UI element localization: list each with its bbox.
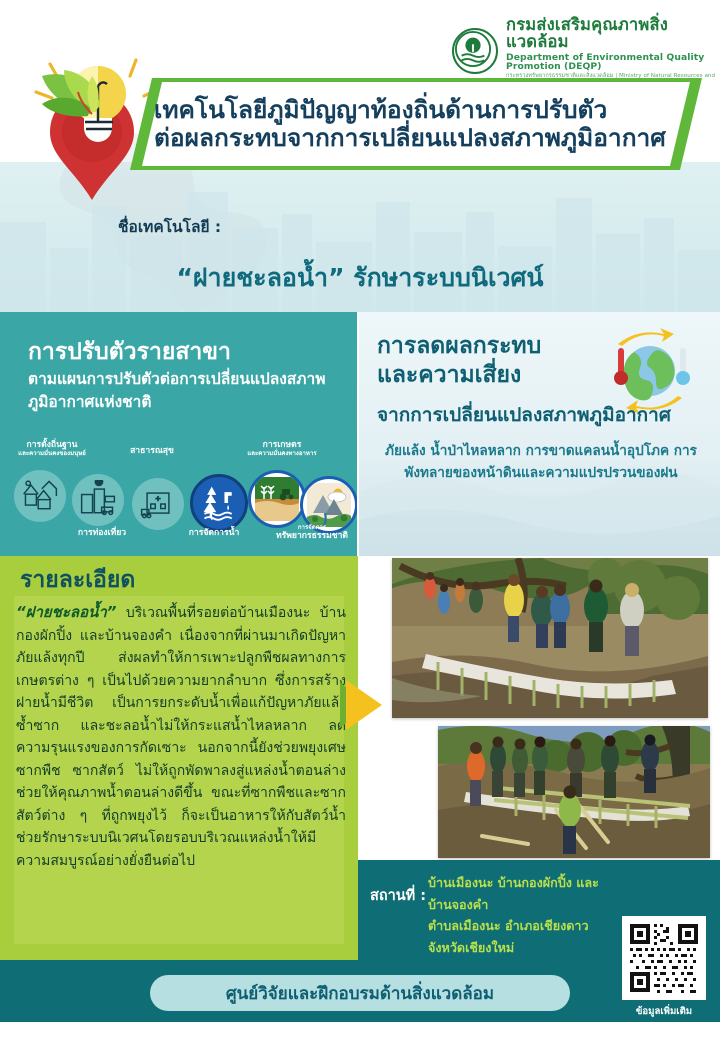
bottom-white-strip: [0, 1022, 720, 1040]
details-lead: “ฝายชะลอน้ำ”: [16, 603, 116, 621]
play-arrow-icon: [336, 676, 388, 734]
sector-label-tourism: การท่องเที่ยว: [58, 528, 146, 538]
water-management-tap-river-icon: [199, 483, 239, 523]
qr-code-icon[interactable]: [622, 916, 706, 1000]
details-paragraph: บริเวณพื้นที่รอยต่อบ้านเมืองนะ บ้านกองผั…: [16, 605, 346, 869]
poster-title-banner: เทคโนโลยีภูมิปัญญาท้องถิ่นด้านการปรับตัว…: [130, 78, 702, 170]
bamboo-weir-villagers-photo: [438, 726, 710, 858]
sector-icons-row: การตั้งถิ่นฐาน และความมั่นคงของมนุษย์ สา…: [0, 442, 357, 556]
location-label: สถานที่ :: [370, 884, 426, 907]
impact-reduction-panel: การลดผลกระทบ และความเสี่ยง จากการเปลี่ยน…: [357, 312, 720, 556]
impact-panel-body: ภัยแล้ง น้ำป่าไหลหลาก การขาดแคลนน้ำอุปโภ…: [381, 440, 701, 484]
settlement-houses-icon: [20, 476, 60, 516]
sector-label-agriculture: การเกษตร และความมั่นคงทางอาหาร: [232, 440, 332, 457]
sector-label-settlement: การตั้งถิ่นฐาน และความมั่นคงของมนุษย์: [6, 440, 98, 457]
qr-caption: ข้อมูลเพิ่มเติม: [618, 1004, 710, 1019]
technology-name: “ฝายชะลอน้ำ” รักษาระบบนิเวศน์: [0, 258, 720, 298]
sector-panel-heading: การปรับตัวรายสาขา: [28, 334, 231, 370]
sector-label-natural-resources: การจัดการ ทรัพยากรธรรมชาติ: [266, 524, 357, 541]
sector-label-water: การจัดการน้ำ: [168, 528, 260, 538]
deqp-logo: กรมส่งเสริมคุณภาพสิ่งแวดล้อม Department …: [452, 16, 720, 86]
public-health-hospital-icon: [138, 484, 178, 524]
sector-label-health: สาธารณสุข: [112, 446, 192, 456]
details-heading: รายละเอียด: [20, 562, 135, 598]
impact-panel-heading: การลดผลกระทบ และความเสี่ยง: [377, 332, 607, 391]
sector-adaptation-panel: การปรับตัวรายสาขา ตามแผนการปรับตัวต่อการ…: [0, 312, 357, 556]
panels-row: การปรับตัวรายสาขา ตามแผนการปรับตัวต่อการ…: [0, 312, 720, 556]
sector-icon-public-health[interactable]: [132, 478, 184, 530]
tree-water-seal-icon: [452, 28, 498, 74]
natural-resource-mountain-icon: [307, 483, 351, 527]
page-title-line1: เทคโนโลยีภูมิปัญญาท้องถิ่นด้านการปรับตัว: [154, 96, 690, 124]
location-lines: บ้านเมืองนะ บ้านกองผักปิ้ง และบ้านจองคำ …: [428, 872, 618, 959]
sector-icon-agriculture[interactable]: [248, 470, 306, 528]
infographic-poster: กรมส่งเสริมคุณภาพสิ่งแวดล้อม Department …: [0, 0, 720, 1040]
sector-panel-subheading: ตามแผนการปรับตัวต่อการเปลี่ยนแปลงสภาพภูม…: [28, 368, 344, 415]
check-dam-construction-photo: [392, 558, 708, 718]
page-title-line2: ต่อผลกระทบจากการเปลี่ยนแปลงสภาพภูมิอากาศ: [154, 124, 690, 152]
details-section: รายละเอียด “ฝายชะลอน้ำ” บริเวณพื้นที่รอย…: [0, 556, 358, 960]
location-line3: จังหวัดเชียงใหม่: [428, 937, 618, 959]
location-line1: บ้านเมืองนะ บ้านกองผักปิ้ง และบ้านจองคำ: [428, 872, 618, 915]
org-name-en: Department of Environmental Quality Prom…: [506, 53, 720, 72]
impact-panel-subheading: จากการเปลี่ยนแปลงสภาพภูมิอากาศ: [377, 400, 707, 430]
sector-icon-water-management[interactable]: [190, 474, 248, 532]
tourism-city-car-icon: [78, 480, 118, 520]
sector-icon-tourism[interactable]: [72, 474, 124, 526]
footer-center-pill: ศูนย์วิจัยและฝึกอบรมด้านสิ่งแวดล้อม: [150, 975, 570, 1011]
poster-header: กรมส่งเสริมคุณภาพสิ่งแวดล้อม Department …: [0, 0, 720, 312]
sector-icon-settlement[interactable]: [14, 470, 66, 522]
location-line2: ตำบลเมืองนะ อำเภอเชียงดาว: [428, 915, 618, 937]
technology-label: ชื่อเทคโนโลยี :: [118, 214, 221, 239]
details-body: “ฝายชะลอน้ำ” บริเวณพื้นที่รอยต่อบ้านเมือ…: [16, 600, 346, 872]
footer-center-name: ศูนย์วิจัยและฝึกอบรมด้านสิ่งแวดล้อม: [226, 980, 494, 1007]
org-name-th: กรมส่งเสริมคุณภาพสิ่งแวดล้อม: [506, 16, 720, 51]
agriculture-wheat-tractor-icon: [255, 477, 299, 521]
